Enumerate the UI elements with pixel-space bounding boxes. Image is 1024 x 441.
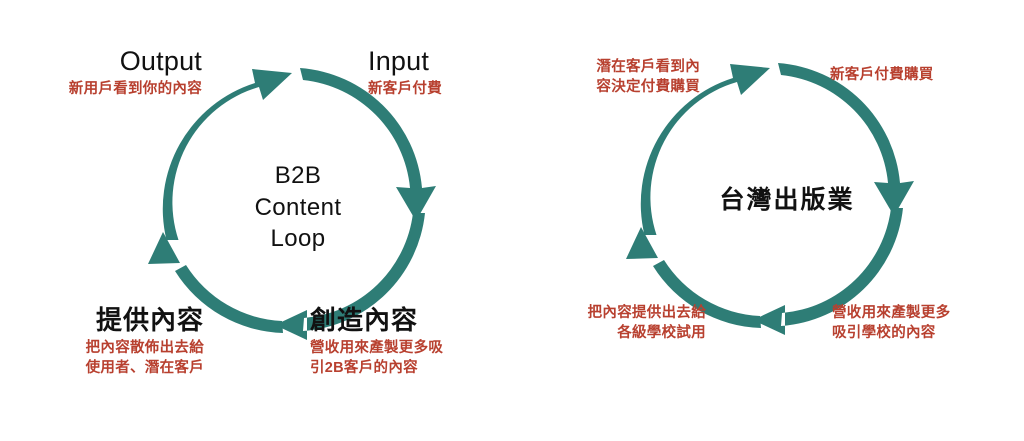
node-prospect-sees-content-description: 潛在客戶看到內 容決定付費購買 (540, 57, 700, 97)
node-revenue-makes-content: 營收用來產製更多 吸引學校的內容 (832, 300, 1012, 343)
node-create-content-description: 營收用來產製更多吸 引2B客戶的內容 (310, 338, 505, 378)
node-output-description: 新用戶看到你的內容 (22, 79, 202, 99)
diagram-canvas: Output 新用戶看到你的內容 Input 新客戶付費 提供內容 把內容散佈出… (0, 0, 1024, 441)
node-input-title: Input (368, 46, 508, 76)
node-provide-to-schools: 把內容提供出去給 各級學校試用 (526, 300, 706, 343)
node-output-title: Output (22, 46, 202, 76)
diagram-taiwan-publishing-loop: 潛在客戶看到內 容決定付費購買 新客戶付費購買 把內容提供出去給 各級學校試用 … (512, 0, 1024, 441)
node-provide-to-schools-description: 把內容提供出去給 各級學校試用 (526, 303, 706, 343)
diagram-b2b-content-loop: Output 新用戶看到你的內容 Input 新客戶付費 提供內容 把內容散佈出… (0, 0, 512, 441)
node-provide-content: 提供內容 把內容散佈出去給 使用者、潛在客戶 (14, 306, 204, 378)
loop-center-label-right: 台灣出版業 (667, 184, 907, 217)
node-revenue-makes-content-description: 營收用來產製更多 吸引學校的內容 (832, 303, 1012, 343)
node-new-customer-pays-description: 新客戶付費購買 (830, 65, 1010, 85)
node-input: Input 新客戶付費 (368, 46, 508, 99)
loop-center-label-left: B2B Content Loop (188, 160, 408, 255)
node-create-content-title: 創造內容 (310, 306, 505, 335)
node-input-description: 新客戶付費 (368, 79, 508, 99)
node-provide-content-title: 提供內容 (14, 306, 204, 335)
node-provide-content-description: 把內容散佈出去給 使用者、潛在客戶 (14, 338, 204, 378)
node-output: Output 新用戶看到你的內容 (22, 46, 202, 99)
node-prospect-sees-content: 潛在客戶看到內 容決定付費購買 (540, 54, 700, 97)
node-create-content: 創造內容 營收用來產製更多吸 引2B客戶的內容 (310, 306, 505, 378)
node-new-customer-pays: 新客戶付費購買 (830, 62, 1010, 85)
